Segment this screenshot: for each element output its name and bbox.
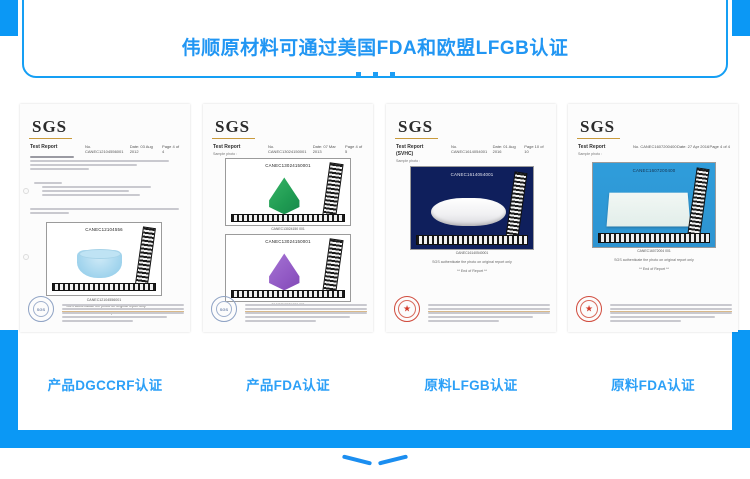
edge-bar-top-right <box>732 0 750 36</box>
chevron-stroke-left <box>342 454 372 465</box>
sample-label: Sample photo : <box>578 152 730 156</box>
sample-photo-caption: CANEC13024150 001 <box>225 227 351 231</box>
report-no: No. CANEC12104556001 <box>85 144 130 154</box>
dot-3 <box>390 72 395 77</box>
chevron-down-icon[interactable] <box>340 458 410 478</box>
report-page: Page 10 of 10 <box>524 144 548 154</box>
footer-address-lines <box>610 304 732 324</box>
page-root: 检测报告 伟顺原材料可通过美国FDA和欧盟LFGB认证 SGS Test Rep… <box>0 0 750 479</box>
certificate-card[interactable]: SGS Test Report No. CANEC13024150001 Dat… <box>203 104 373 369</box>
sgs-seal-icon: SGS <box>28 296 54 322</box>
report-remark-lines <box>30 208 180 216</box>
report-no: No. CANEC1607200400 <box>633 144 677 149</box>
report-page: Page 4 of 5 <box>345 144 365 154</box>
sgs-logo: SGS <box>32 117 67 137</box>
ruler-icon <box>231 214 345 222</box>
report-meta: No. CANEC13024150001 Date: 07 Mar 2013 P… <box>268 144 365 154</box>
certification-seal-icon: ★ <box>576 296 602 322</box>
report-date: Date: 03 Aug 2012 <box>130 144 162 154</box>
report-meta: No. CANEC12104556001 Date: 03 Aug 2012 P… <box>85 144 182 154</box>
certificate-page: SGS Test Report No. CANEC1607200400 Date… <box>568 104 738 332</box>
punch-hole-icon <box>23 254 29 260</box>
ruler-icon <box>505 171 527 238</box>
product-bowl-shape <box>77 250 123 277</box>
footer-address-lines <box>62 304 184 324</box>
report-date: Date: 07 Mar 2013 <box>313 144 345 154</box>
certificate-page: SGS Test Report (SVHC) No. CANEC16140540… <box>386 104 556 332</box>
dot-1 <box>356 72 361 77</box>
certificate-card[interactable]: SGS Test Report No. CANEC12104556001 Dat… <box>20 104 190 369</box>
sgs-logo: SGS <box>215 117 250 137</box>
report-no: No. CANEC1614054001 <box>451 144 493 154</box>
certificate-caption: 原料LFGB认证 <box>386 374 556 394</box>
sample-photo-caption: CANEC16072004 001 <box>592 249 716 253</box>
certificate-footer: ★ <box>568 286 738 332</box>
certificate-gallery: SGS Test Report No. CANEC12104556001 Dat… <box>0 104 750 404</box>
authenticate-note: SGS authenticate the photo on original r… <box>578 258 730 262</box>
end-of-report-note: ** End of Report ** <box>578 267 730 271</box>
product-sheet-shape <box>606 192 689 225</box>
report-meta: No. CANEC1607200400 Date: 27 Apr 2016 Pa… <box>633 144 730 149</box>
sgs-logo: SGS <box>580 117 615 137</box>
edge-bar-top-left <box>0 0 18 36</box>
certificate-footer: ★ <box>386 286 556 332</box>
footer-address-lines <box>245 304 367 324</box>
ruler-icon <box>323 238 344 292</box>
report-date: Date: 01 Aug 2016 <box>493 144 525 154</box>
certificate-footer: SGS <box>20 286 190 332</box>
banner-dots <box>0 64 750 82</box>
end-of-report-note: ** End of Report ** <box>396 269 548 273</box>
footer-blue-band <box>0 430 750 448</box>
report-date: Date: 27 Apr 2016 <box>677 144 709 149</box>
sgs-seal-icon: SGS <box>211 296 237 322</box>
product-cone-purple <box>263 253 305 290</box>
certificate-caption: 产品DGCCRF认证 <box>20 374 190 394</box>
footer-address-lines <box>428 304 550 324</box>
report-no: No. CANEC13024150001 <box>268 144 313 154</box>
certificate-card[interactable]: SGS Test Report No. CANEC1607200400 Date… <box>568 104 738 369</box>
report-body-lines <box>30 156 178 172</box>
report-header: Test Report No. CANEC1607200400 Date: 27… <box>578 144 730 156</box>
report-meta: No. CANEC1614054001 Date: 01 Aug 2016 Pa… <box>451 144 548 154</box>
sgs-logo: SGS <box>398 117 433 137</box>
product-cone-green <box>263 177 305 214</box>
sample-photo-caption: CANEC16140540001 <box>410 251 534 255</box>
sample-photo-top: CANEC13024150001 <box>225 158 351 226</box>
chevron-stroke-right <box>378 454 408 465</box>
dot-2 <box>373 72 378 77</box>
report-page: Page 4 of 4 <box>710 144 730 149</box>
report-header: Test Report No. CANEC12104556001 Date: 0… <box>30 144 182 151</box>
certificate-page: SGS Test Report No. CANEC12104556001 Dat… <box>20 104 190 332</box>
sample-photo: CANEC12104556 <box>46 222 162 296</box>
report-page: Page 4 of 4 <box>162 144 182 154</box>
sample-photo: CANEC1614054001 <box>410 166 534 250</box>
sample-label: Sample photo : <box>396 159 548 163</box>
report-header: Test Report (SVHC) No. CANEC1614054001 D… <box>396 144 548 163</box>
sample-photo: CANEC1607200400 <box>592 162 716 248</box>
ruler-icon <box>323 162 344 216</box>
banner-headline: 伟顺原材料可通过美国FDA和欧盟LFGB认证 <box>0 33 750 60</box>
certificate-page: SGS Test Report No. CANEC13024150001 Dat… <box>203 104 373 332</box>
ruler-icon <box>135 227 155 286</box>
certificate-footer: SGS <box>203 286 373 332</box>
certificate-caption: 产品FDA认证 <box>203 374 373 394</box>
ruler-icon <box>416 235 528 245</box>
authenticate-note: SGS authenticate the photo on original r… <box>396 260 548 264</box>
certificate-caption: 原料FDA认证 <box>568 374 738 394</box>
ruler-icon <box>687 167 710 235</box>
certificate-card[interactable]: SGS Test Report (SVHC) No. CANEC16140540… <box>386 104 556 369</box>
certification-seal-icon: ★ <box>394 296 420 322</box>
report-header: Test Report No. CANEC13024150001 Date: 0… <box>213 144 365 156</box>
report-notes-lines <box>34 182 174 198</box>
ruler-icon <box>598 233 710 243</box>
product-white-shape <box>431 198 507 226</box>
punch-hole-icon <box>23 188 29 194</box>
